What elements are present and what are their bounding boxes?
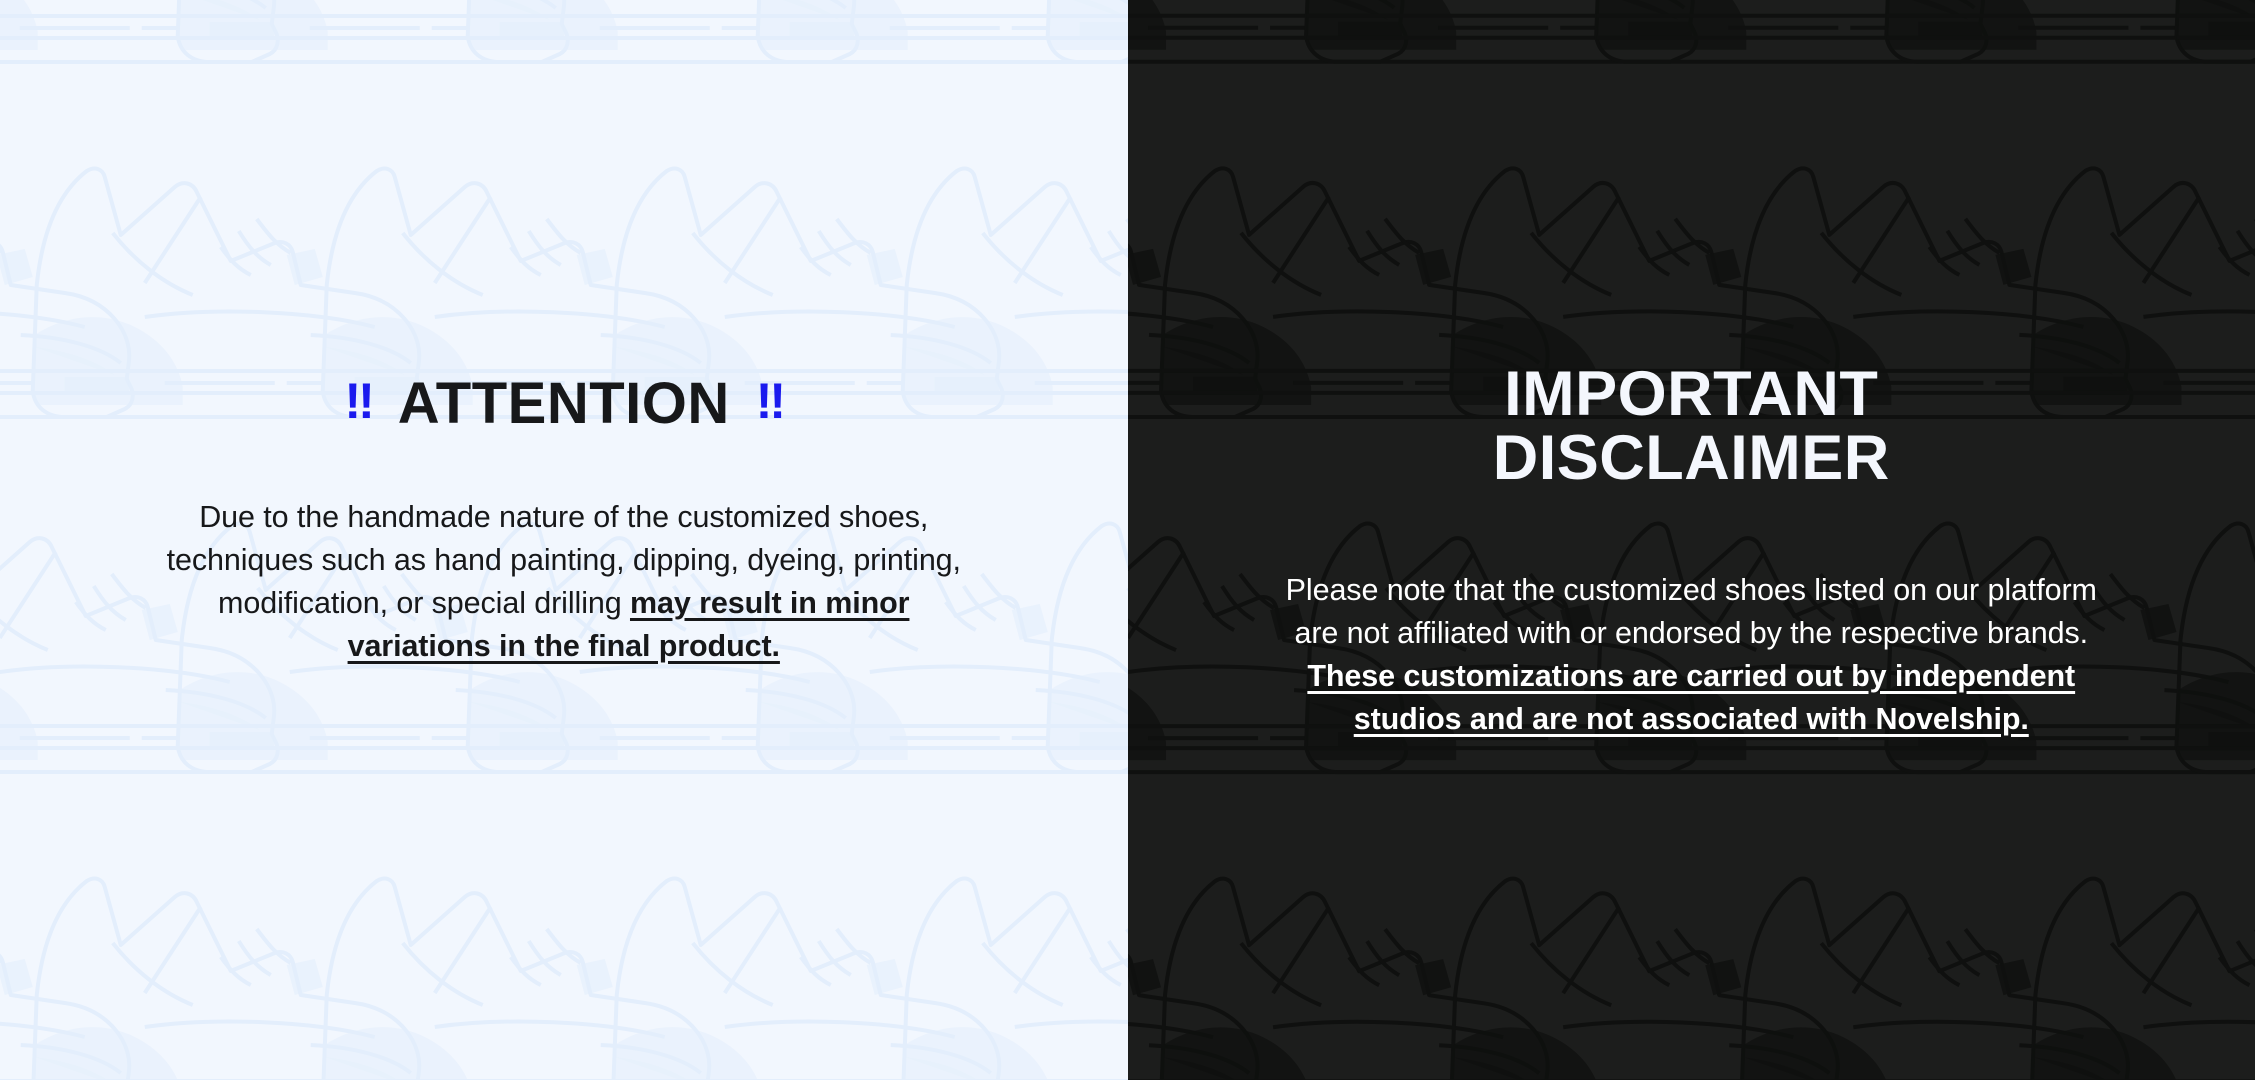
disclaimer-body-emphasis: These customizations are carried out by … [1307,659,2075,736]
disclaimer-heading-line-1: IMPORTANT [1493,362,1890,426]
attention-heading-text: ATTENTION [398,375,730,433]
attention-panel: ‼ ATTENTION ‼ Due to the handmade nature… [0,0,1128,1080]
disclaimer-panel: IMPORTANT DISCLAIMER Please note that th… [1128,0,2255,1080]
disclaimer-body: Please note that the customized shoes li… [1281,569,2101,741]
disclaimer-heading-line-2: DISCLAIMER [1493,426,1890,490]
double-exclamation-icon-left: ‼ [345,376,372,426]
attention-body: Due to the handmade nature of the custom… [164,496,964,668]
attention-heading: ‼ ATTENTION ‼ [345,375,783,433]
disclaimer-body-plain: Please note that the customized shoes li… [1286,573,2097,650]
disclaimer-heading: IMPORTANT DISCLAIMER [1493,362,1890,491]
promo-banner: ‼ ATTENTION ‼ Due to the handmade nature… [0,0,2255,1080]
double-exclamation-icon-right: ‼ [756,376,783,426]
